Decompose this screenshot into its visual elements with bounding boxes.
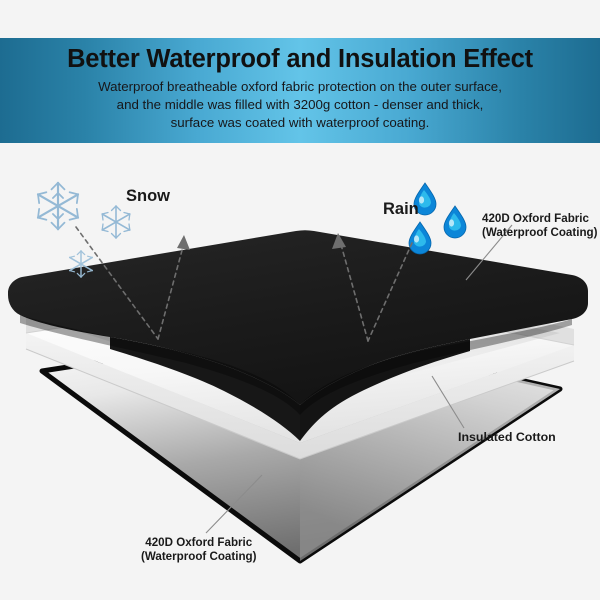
bottom-fabric-annotation-line-2: (Waterproof Coating) — [141, 550, 257, 564]
snow-arrowhead-icon — [177, 235, 190, 250]
cotton-annotation: Insulated Cotton — [458, 430, 556, 446]
infographic-page: Better Waterproof and Insulation Effect … — [0, 0, 600, 600]
banner-subtitle-line-1: Waterproof breatheable oxford fabric pro… — [98, 78, 502, 96]
header-banner: Better Waterproof and Insulation Effect … — [0, 38, 600, 143]
raindrop-icon — [444, 206, 466, 238]
top-margin-strip — [0, 0, 600, 38]
banner-subtitle-line-3: surface was coated with waterproof coati… — [98, 114, 502, 132]
bottom-fabric-annotation: 420D Oxford Fabric (Waterproof Coating) — [141, 536, 257, 565]
snow-label: Snow — [126, 186, 170, 207]
rain-label: Rain — [383, 199, 419, 220]
raindrop-icon — [409, 222, 431, 254]
top-fabric-annotation-line-2: (Waterproof Coating) — [482, 226, 598, 239]
top-fabric-annotation: 420D Oxford Fabric (Waterproof Coating) — [482, 212, 598, 241]
banner-subtitle: Waterproof breatheable oxford fabric pro… — [98, 78, 502, 133]
banner-subtitle-line-2: and the middle was filled with 3200g cot… — [98, 96, 502, 114]
bottom-fabric-annotation-line-1: 420D Oxford Fabric — [145, 536, 252, 549]
snowflake-icon — [102, 206, 130, 238]
snowflake-icon — [38, 183, 78, 229]
page-title: Better Waterproof and Insulation Effect — [67, 45, 533, 73]
top-fabric-annotation-line-1: 420D Oxford Fabric — [482, 212, 589, 225]
